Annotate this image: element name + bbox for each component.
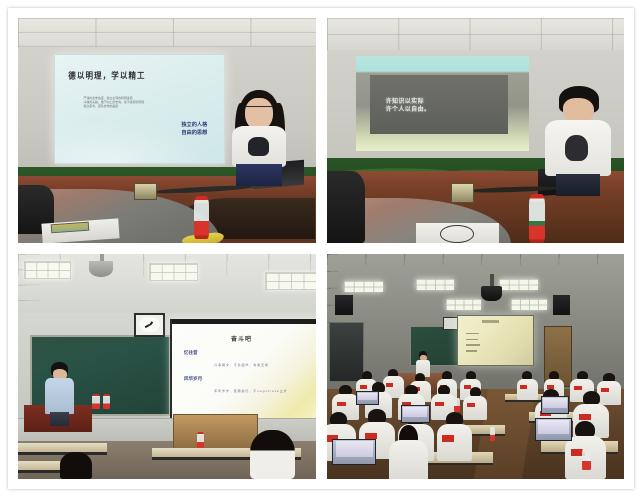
seated-student — [60, 452, 93, 479]
fluorescent-light — [499, 279, 538, 290]
water-bottle — [194, 196, 209, 239]
slide-title-block — [482, 320, 498, 323]
ceiling — [327, 18, 625, 50]
slide-title: 德以明理，学以精工 — [68, 69, 145, 81]
slide-title: 奋斗吧 — [172, 334, 312, 343]
slide-body-2: 年年岁岁、砥砺前行、不negotiate止步 — [214, 389, 287, 393]
fluorescent-light — [24, 261, 71, 279]
wall-speaker — [335, 295, 353, 315]
water-bottle — [103, 394, 110, 410]
projection-screen — [457, 315, 533, 367]
photo-top-right[interactable]: 许知识以实际 许个人以自由。 — [327, 18, 625, 243]
pants — [556, 174, 601, 196]
glasses — [245, 106, 274, 112]
water-bottle — [92, 394, 99, 410]
student — [389, 425, 428, 479]
blue-shirt — [45, 378, 74, 413]
fluorescent-light — [149, 263, 199, 281]
collage-frame: 德以明理，学以精工 严谨的治学态度，独立主导的科研素质 冷静的头脑，敢于向上的志… — [8, 8, 634, 489]
fluorescent-light — [344, 281, 383, 292]
power-strip — [134, 183, 157, 201]
water-bottle — [490, 427, 495, 441]
screen-top-bar — [172, 319, 316, 324]
slide-heading-1: 忆往昔 — [184, 350, 198, 356]
photo-collage: 德以明理，学以精工 严谨的治学态度，独立主导的科研素质 冷静的头脑，敢于向上的志… — [0, 0, 642, 497]
water-bottle — [582, 448, 591, 471]
projection-screen: 许知识以实际 许个人以自由。 — [356, 56, 529, 151]
slide-line — [466, 339, 478, 341]
female-speaker — [223, 90, 294, 185]
projector — [481, 286, 502, 302]
fluorescent-light — [265, 272, 316, 290]
water-bottle — [197, 432, 204, 448]
handout-graphic — [440, 225, 475, 243]
student — [437, 412, 473, 462]
male-speaker — [45, 362, 75, 425]
slide-footer: 独立的人格 自由的思想 — [181, 122, 207, 138]
fluorescent-light — [511, 299, 547, 310]
projection-screen: 奋斗吧 忆往昔 只争朝夕、不负韶华、青春无悔 风华岁月 年年岁岁、砥砺前行、不n… — [170, 319, 316, 418]
clock-face — [139, 317, 159, 332]
slide-body: 严谨的治学态度，独立主导的科研素质 冷静的头脑，敢于向上的志向，永不言弃的坚韧 … — [84, 96, 145, 109]
slide-line — [466, 350, 477, 352]
seated-student — [250, 430, 295, 480]
power-strip — [451, 183, 474, 203]
face — [245, 98, 272, 130]
photo-bottom-right[interactable] — [327, 254, 625, 479]
office-chair — [327, 171, 366, 243]
water-bottle — [454, 398, 459, 412]
photo-top-left[interactable]: 德以明理，学以精工 严谨的治学态度，独立主导的科研素质 冷静的头脑，敢于向上的志… — [18, 18, 316, 243]
water-bottle — [529, 194, 545, 244]
male-speaker — [541, 86, 615, 194]
ceiling-fan — [89, 261, 113, 277]
laptop — [332, 439, 376, 466]
laptop — [535, 418, 573, 440]
skirt — [236, 164, 282, 187]
slide-line — [466, 344, 480, 346]
collage-grid: 德以明理，学以精工 严谨的治学态度，独立主导的科研素质 冷静的头脑，敢于向上的志… — [18, 18, 624, 479]
slide-text: 许知识以实际 许个人以自由。 — [386, 98, 431, 114]
tshirt-graphic — [565, 135, 589, 161]
wall-speaker — [553, 295, 571, 315]
laptop — [356, 391, 379, 404]
laptop — [401, 405, 430, 423]
wall-clock — [134, 313, 165, 337]
fluorescent-light — [446, 299, 482, 310]
photo-bottom-left[interactable]: 奋斗吧 忆往昔 只争朝夕、不负韶华、青春无悔 风华岁月 年年岁岁、砥砺前行、不n… — [18, 254, 316, 479]
ceiling — [18, 18, 316, 48]
slide-body-1: 只争朝夕、不负韶华、青春无悔 — [214, 363, 269, 367]
rear-desk-panel — [173, 414, 258, 450]
mobile-phone — [50, 221, 88, 233]
projection-screen: 德以明理，学以精工 严谨的治学态度，独立主导的科研素质 冷静的头脑，敢于向上的志… — [54, 54, 226, 164]
fluorescent-light — [416, 279, 455, 290]
laptop — [541, 396, 570, 414]
slide-line — [466, 333, 479, 335]
student-desk — [18, 443, 107, 455]
pants — [50, 412, 69, 426]
slide-heading-2: 风华岁月 — [184, 376, 202, 382]
tshirt-graphic — [248, 137, 269, 156]
clock-minute-hand — [145, 324, 150, 328]
